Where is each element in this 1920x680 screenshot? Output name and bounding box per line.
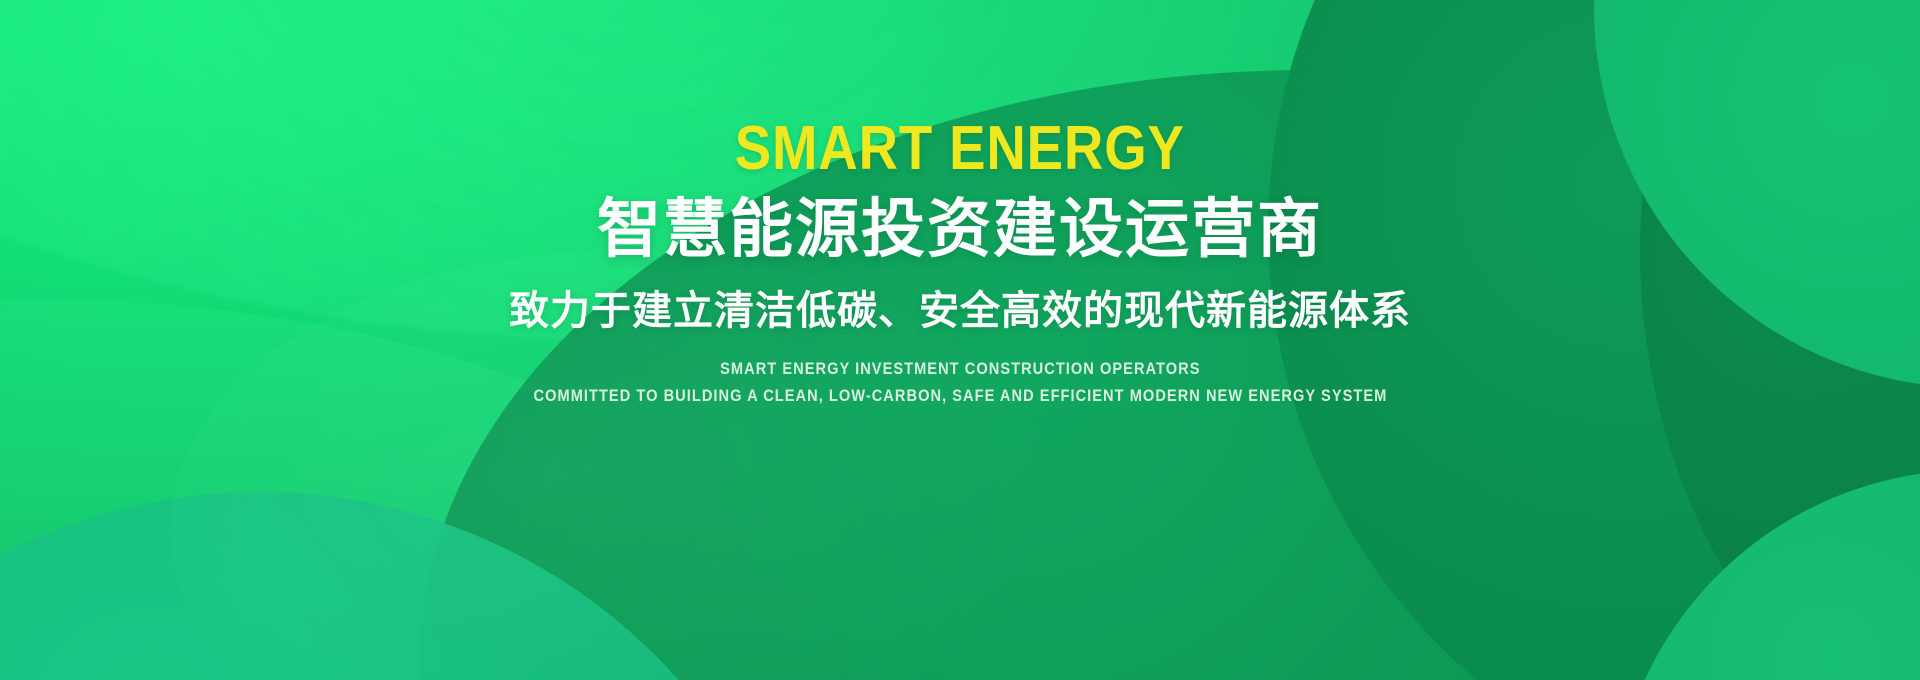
headline-english: SMART ENERGY: [735, 118, 1185, 180]
banner-content: SMART ENERGY 智慧能源投资建设运营商 致力于建立清洁低碳、安全高效的…: [0, 0, 1920, 680]
hero-banner: SMART ENERGY 智慧能源投资建设运营商 致力于建立清洁低碳、安全高效的…: [0, 0, 1920, 680]
headline-chinese: 智慧能源投资建设运营商: [597, 196, 1323, 263]
subtitle-chinese: 致力于建立清洁低碳、安全高效的现代新能源体系: [509, 289, 1411, 333]
tagline-english-line-2: COMMITTED TO BUILDING A CLEAN, LOW-CARBO…: [533, 384, 1387, 409]
tagline-english-line-1: SMART ENERGY INVESTMENT CONSTRUCTION OPE…: [720, 357, 1200, 382]
